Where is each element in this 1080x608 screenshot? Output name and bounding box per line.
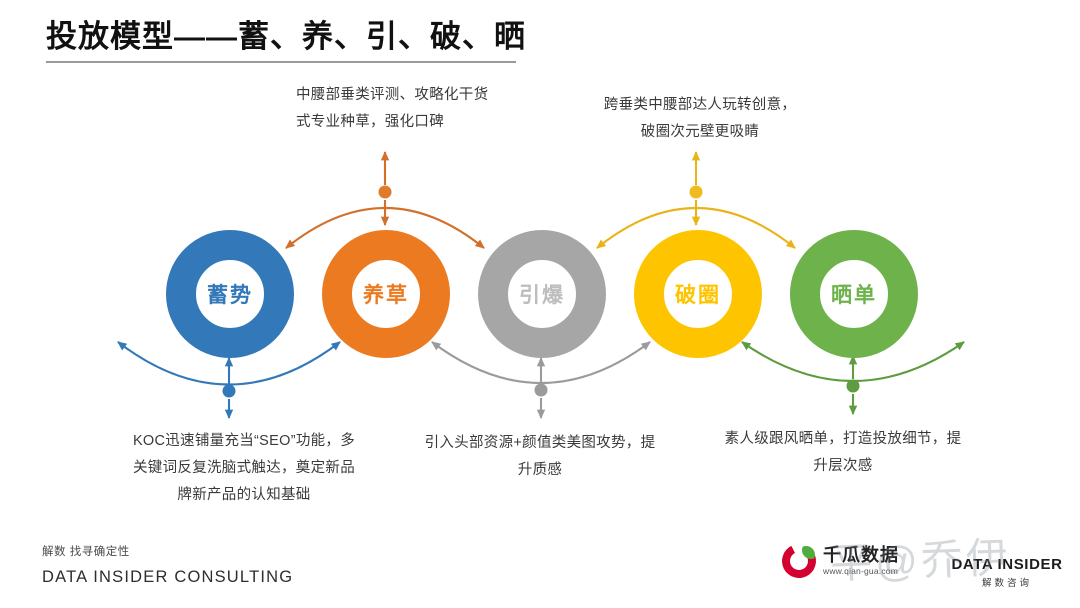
- stage-label-yinbao: 引爆: [519, 279, 565, 309]
- page-title: 投放模型——蓄、养、引、破、晒: [46, 18, 606, 63]
- watermark-overlay: 平@乔伊: [829, 524, 1012, 591]
- qiangua-ring-shape: [778, 540, 821, 583]
- caption-top-poquan: 跨垂类中腰部达人玩转创意，破圈次元壁更吸睛: [600, 92, 800, 146]
- stage-donut-yangcao[interactable]: 养草: [322, 230, 450, 358]
- qiangua-mark-icon: [782, 544, 816, 578]
- footer-brand-en: DATA INSIDER CONSULTING: [42, 568, 293, 587]
- stage-donut-xushi[interactable]: 蓄势: [166, 230, 294, 358]
- stage-label-yangcao: 养草: [363, 279, 409, 309]
- stage-label-shaidan: 晒单: [831, 279, 877, 309]
- title-underline-rule: [46, 61, 516, 63]
- stage-label-xushi: 蓄势: [207, 279, 253, 309]
- stage-donut-poquan[interactable]: 破圈: [634, 230, 762, 358]
- caption-bottom-shaidan: 素人级跟风晒单，打造投放细节，提升层次感: [718, 426, 968, 480]
- stage-donut-shaidan[interactable]: 晒单: [790, 230, 918, 358]
- stage-donut-yinbao[interactable]: 引爆: [478, 230, 606, 358]
- caption-top-yangcao: 中腰部垂类评测、攻略化干货式专业种草，强化口碑: [296, 82, 496, 136]
- footer-tagline-cn: 解数 找寻确定性: [42, 543, 293, 559]
- page-title-text: 投放模型——蓄、养、引、破、晒: [46, 18, 606, 57]
- caption-bottom-xushi: KOC迅速铺量充当“SEO”功能，多关键词反复洗脑式触达，奠定新品牌新产品的认知…: [128, 428, 360, 508]
- caption-bottom-yinbao: 引入头部资源+颜值类美图攻势，提升质感: [420, 430, 660, 484]
- stage-label-poquan: 破圈: [675, 279, 721, 309]
- footer-brand-left: 解数 找寻确定性 DATA INSIDER CONSULTING: [42, 543, 293, 587]
- slide-canvas: 投放模型——蓄、养、引、破、晒: [0, 0, 1080, 608]
